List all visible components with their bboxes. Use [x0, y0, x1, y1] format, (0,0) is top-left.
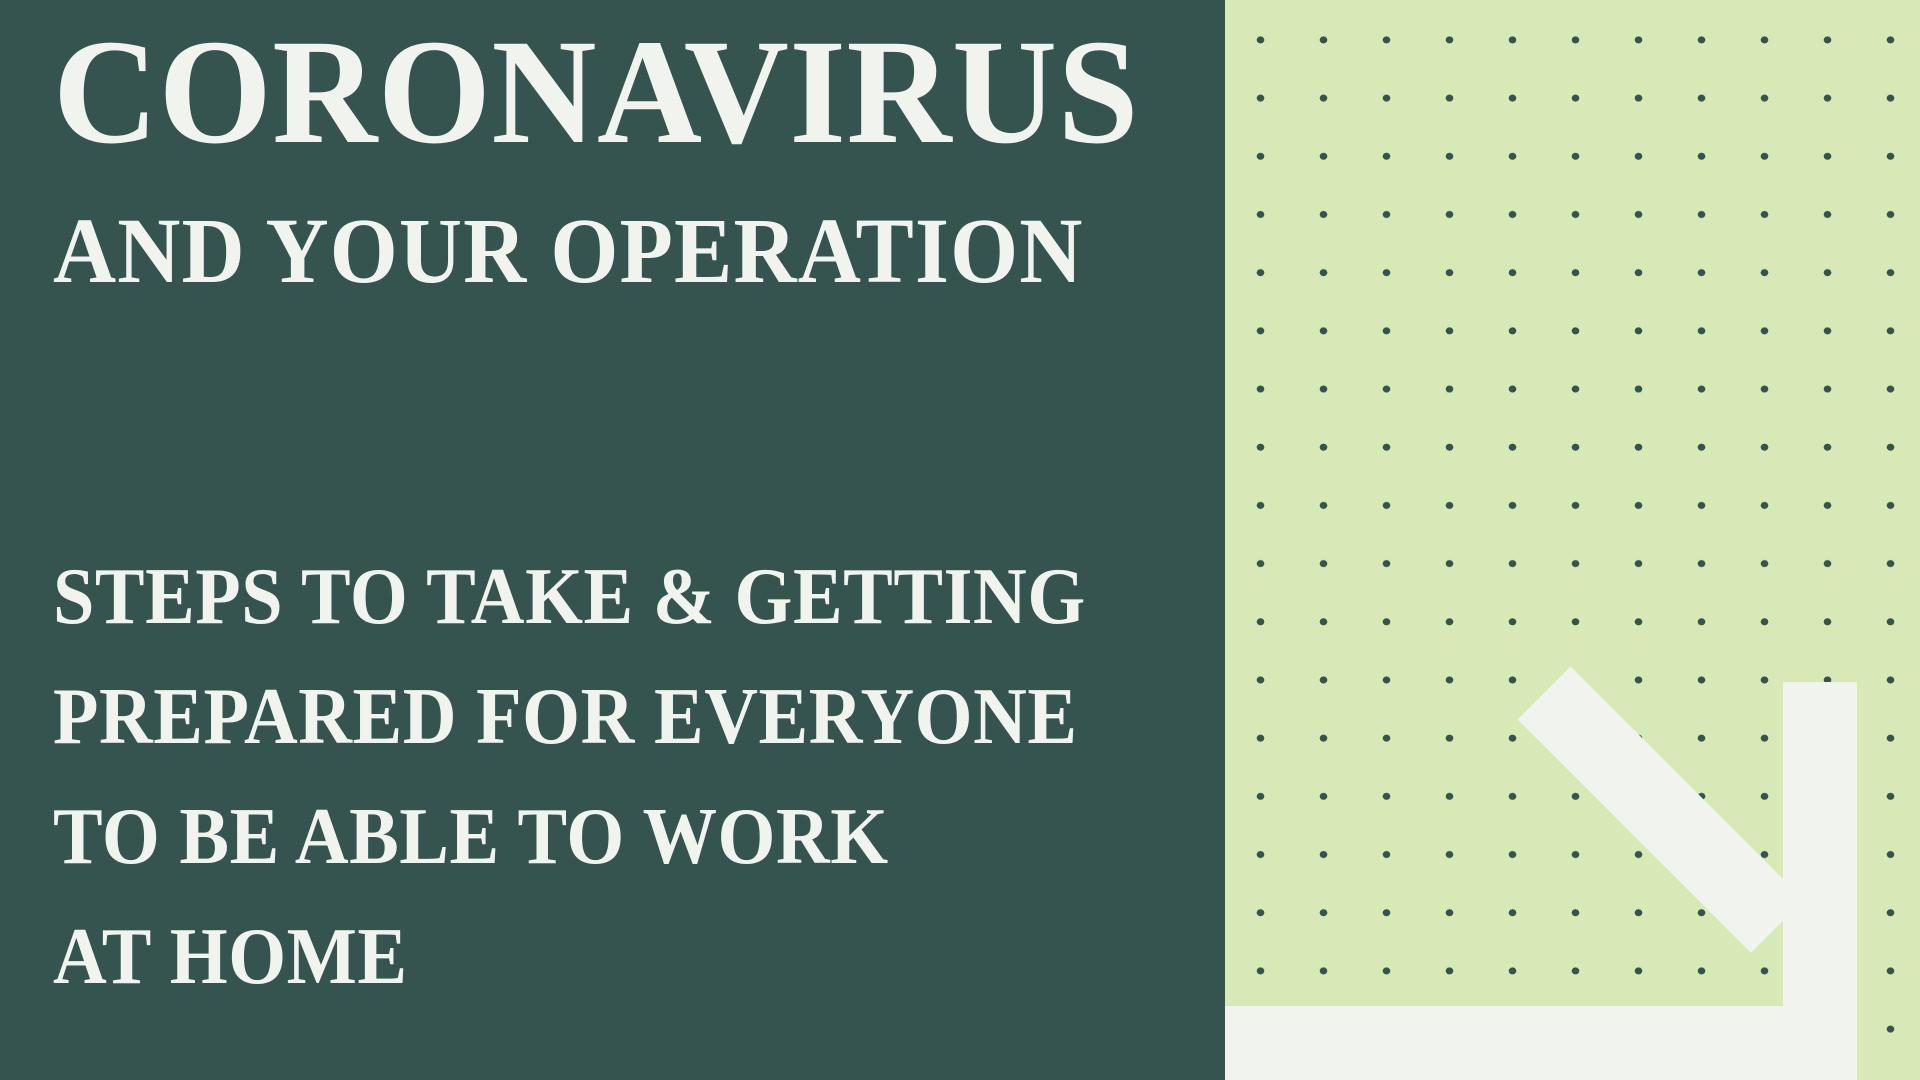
left-dark-panel: CORONAVIRUS AND YOUR OPERATION STEPS TO …: [0, 0, 1225, 1080]
poster-canvas: CORONAVIRUS AND YOUR OPERATION STEPS TO …: [0, 0, 1920, 1080]
dot-grid-pattern: [1225, 0, 1920, 1080]
body-line: TO BE ABLE TO WORK: [53, 795, 1030, 879]
page-title: CORONAVIRUS: [53, 17, 1139, 167]
body-line: PREPARED FOR EVERYONE: [53, 675, 1030, 759]
body-line: STEPS TO TAKE & GETTING: [53, 555, 1030, 639]
body-text-block: STEPS TO TAKE & GETTING PREPARED FOR EVE…: [53, 555, 1103, 999]
right-green-panel: [1225, 0, 1920, 1080]
page-subtitle: AND YOUR OPERATION: [53, 205, 1084, 298]
text-stack: CORONAVIRUS AND YOUR OPERATION STEPS TO …: [53, 0, 1153, 1080]
body-line: AT HOME: [53, 915, 1030, 999]
